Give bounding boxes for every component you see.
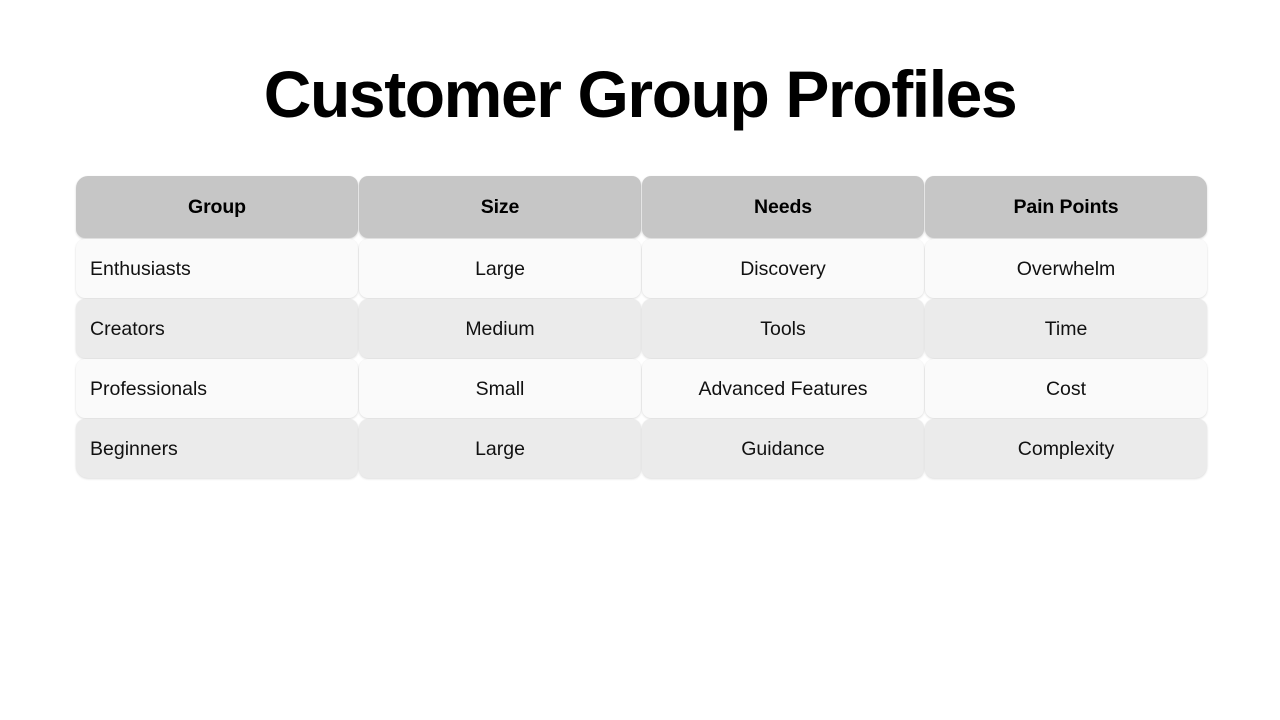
table-cell-needs: Guidance: [642, 419, 924, 478]
table-cell-needs: Discovery: [642, 239, 924, 298]
cell-text: Guidance: [741, 437, 824, 461]
cell-text: Large: [475, 257, 525, 281]
table-cell-pain-points: Time: [925, 299, 1207, 358]
table-cell-needs: Tools: [642, 299, 924, 358]
table-row: Professionals Small Advanced Features Co…: [76, 359, 1204, 418]
column-header-label: Pain Points: [1013, 195, 1118, 219]
cell-text: Tools: [760, 317, 806, 341]
column-header-needs: Needs: [642, 176, 924, 238]
cell-text: Medium: [465, 317, 534, 341]
page-title: Customer Group Profiles: [0, 52, 1280, 136]
table-cell-pain-points: Cost: [925, 359, 1207, 418]
column-header-label: Group: [188, 195, 246, 219]
cell-text: Professionals: [90, 377, 207, 401]
table-cell-pain-points: Complexity: [925, 419, 1207, 478]
table-cell-group: Creators: [76, 299, 358, 358]
cell-text: Overwhelm: [1017, 257, 1116, 281]
table-cell-size: Medium: [359, 299, 641, 358]
table: Group Size Needs Pain Points Enthusiasts: [76, 176, 1204, 478]
table-cell-group: Professionals: [76, 359, 358, 418]
table-cell-pain-points: Overwhelm: [925, 239, 1207, 298]
table-cell-size: Large: [359, 239, 641, 298]
cell-text: Complexity: [1018, 437, 1114, 461]
column-header-group: Group: [76, 176, 358, 238]
customer-group-profiles-table: Group Size Needs Pain Points Enthusiasts: [76, 176, 1204, 478]
table-cell-group: Beginners: [76, 419, 358, 478]
column-header-pain-points: Pain Points: [925, 176, 1207, 238]
table-cell-group: Enthusiasts: [76, 239, 358, 298]
cell-text: Time: [1045, 317, 1088, 341]
cell-text: Discovery: [740, 257, 826, 281]
table-header-row: Group Size Needs Pain Points: [76, 176, 1204, 238]
cell-text: Small: [476, 377, 525, 401]
cell-text: Beginners: [90, 437, 178, 461]
column-header-label: Needs: [754, 195, 812, 219]
cell-text: Large: [475, 437, 525, 461]
cell-text: Advanced Features: [698, 377, 867, 401]
cell-text: Creators: [90, 317, 165, 341]
table-cell-size: Small: [359, 359, 641, 418]
table-cell-size: Large: [359, 419, 641, 478]
cell-text: Cost: [1046, 377, 1086, 401]
table-row: Creators Medium Tools Time: [76, 299, 1204, 358]
table-cell-needs: Advanced Features: [642, 359, 924, 418]
table-row: Beginners Large Guidance Complexity: [76, 419, 1204, 478]
column-header-size: Size: [359, 176, 641, 238]
slide-canvas: Customer Group Profiles Group Size Needs…: [0, 0, 1280, 720]
cell-text: Enthusiasts: [90, 257, 191, 281]
column-header-label: Size: [481, 195, 520, 219]
table-row: Enthusiasts Large Discovery Overwhelm: [76, 239, 1204, 298]
